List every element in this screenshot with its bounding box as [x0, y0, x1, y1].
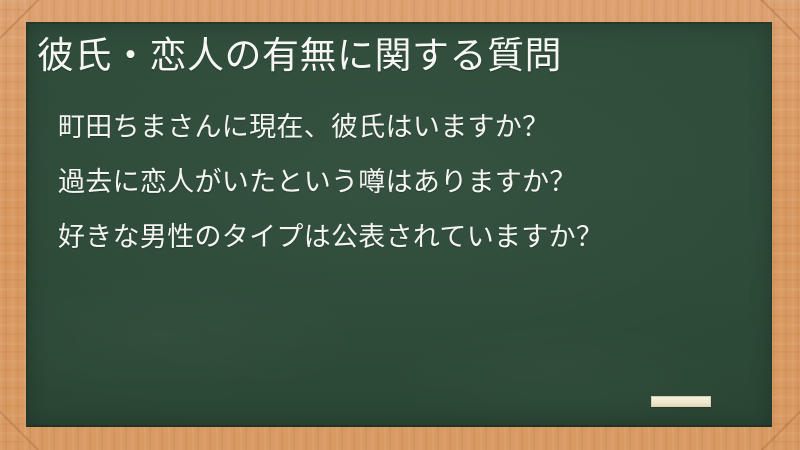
- wood-frame-right-rail: [772, 0, 800, 450]
- board-question-line: 好きな男性のタイプは公表されていますか？: [58, 210, 748, 265]
- board-question-line: 町田ちまさんに現在、彼氏はいますか？: [58, 100, 748, 155]
- blackboard-scene: 彼氏・恋人の有無に関する質問 町田ちまさんに現在、彼氏はいますか？ 過去に恋人が…: [0, 0, 800, 450]
- wood-frame-left-rail: [0, 0, 26, 450]
- board-question-list: 町田ちまさんに現在、彼氏はいますか？ 過去に恋人がいたという噂はありますか？ 好…: [58, 100, 748, 265]
- board-title: 彼氏・恋人の有無に関する質問: [37, 32, 562, 80]
- chalkboard-surface: 彼氏・恋人の有無に関する質問 町田ちまさんに現在、彼氏はいますか？ 過去に恋人が…: [26, 22, 772, 427]
- board-question-line: 過去に恋人がいたという噂はありますか？: [58, 155, 748, 210]
- chalk-stick-icon: [651, 396, 711, 407]
